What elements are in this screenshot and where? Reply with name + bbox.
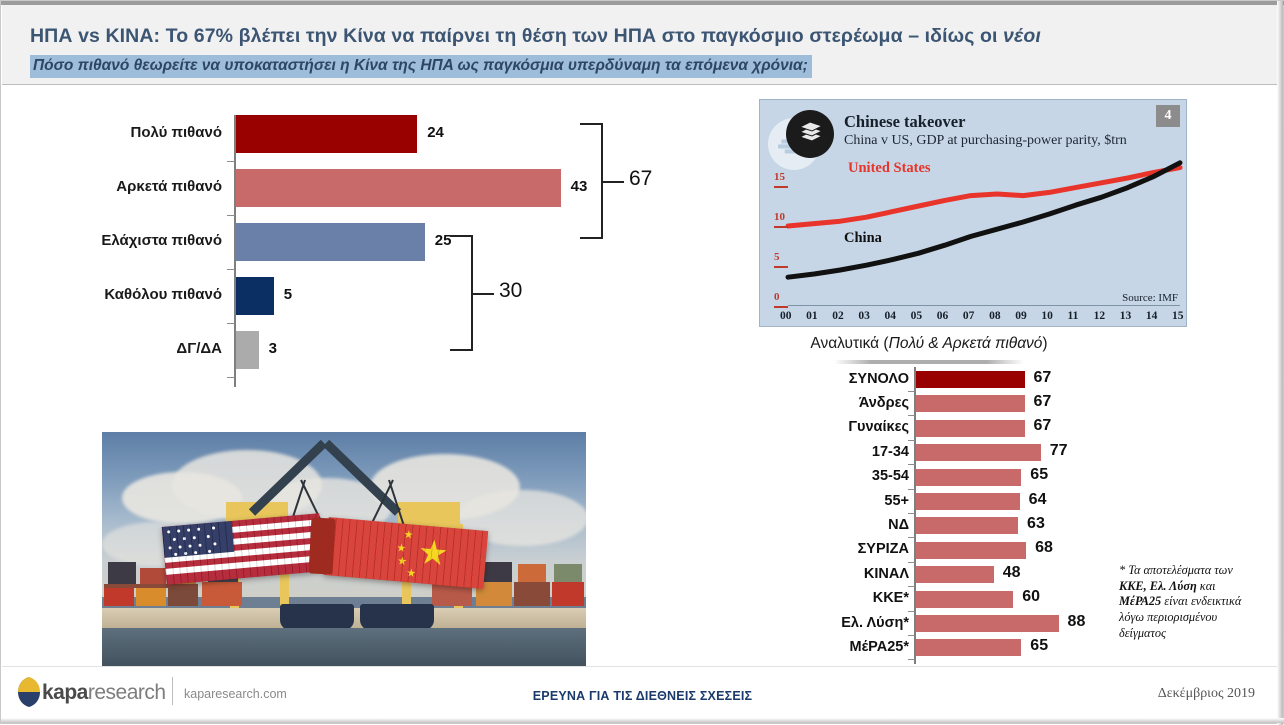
breakdown-chart-label: Άνδρες: [759, 395, 909, 411]
main-chart-value: 43: [571, 178, 588, 195]
breakdown-chart-value: 67: [1034, 393, 1052, 411]
main-bar-chart: 24432553 6730 Πολύ πιθανόΑρκετά πιθανόΕλ…: [1, 101, 701, 411]
breakdown-chart-value: 67: [1034, 369, 1052, 387]
breakdown-chart-tick: [908, 659, 915, 660]
boat: [280, 604, 354, 630]
main-chart-tick: [227, 323, 235, 324]
breakdown-chart-value: 48: [1003, 564, 1021, 582]
main-chart-bar: [236, 169, 561, 207]
breakdown-chart-tick: [908, 537, 915, 538]
economist-x-axis: [788, 305, 1180, 306]
breakdown-chart-bar: [916, 444, 1041, 461]
breakdown-chart-bar: [916, 420, 1025, 437]
breakdown-chart-label: ΣΥΡΙΖΑ: [759, 541, 909, 557]
breakdown-chart-label: ΜέΡΑ25*: [759, 639, 909, 655]
slide-right-edge: [1277, 1, 1283, 725]
economist-x-label: 15: [1172, 310, 1184, 322]
main-chart-label: Ελάχιστα πιθανό: [72, 232, 222, 249]
breakdown-chart-tick: [908, 415, 915, 416]
breakdown-chart-bar: [916, 395, 1025, 412]
breakdown-chart-value: 68: [1035, 539, 1053, 557]
container: [202, 582, 242, 606]
breakdown-chart-bar: [916, 469, 1021, 486]
slide-footer: kaparesearch kaparesearch.com ΕΡΕΥΝΑ ΓΙΑ…: [2, 666, 1283, 718]
economist-x-label: 10: [1041, 310, 1053, 322]
main-chart-bar: [236, 277, 274, 315]
breakdown-chart-tick: [908, 562, 915, 563]
economist-series-label: United States: [848, 160, 931, 177]
economist-source: Source: IMF: [1122, 292, 1178, 304]
economist-chart: Chinese takeover China v US, GDP at purc…: [759, 99, 1187, 327]
main-chart-value: 24: [427, 124, 444, 141]
main-chart-brace-value: 67: [629, 167, 652, 191]
economist-y-tick: [774, 266, 788, 268]
footer-survey-title: ΕΡΕΥΝΑ ΓΙΑ ΤΙΣ ΔΙΕΘΝΕΙΣ ΣΧΕΣΕΙΣ: [2, 689, 1283, 703]
breakdown-chart-bar: [916, 615, 1059, 632]
breakdown-chart-bar: [916, 493, 1020, 510]
page-subtitle: Πόσο πιθανό θεωρείτε να υποκαταστήσει η …: [30, 55, 812, 78]
footer-date: Δεκέμβριος 2019: [1158, 686, 1255, 702]
economist-y-label: 15: [774, 171, 785, 183]
main-chart-label: Καθόλου πιθανό: [72, 286, 222, 303]
breakdown-footnote: * Τα αποτελέσματα των ΚΚΕ, Ελ. Λύση και …: [1119, 563, 1259, 642]
economist-x-label: 05: [911, 310, 923, 322]
container: [104, 584, 198, 588]
page-title-italic: νέοι: [1003, 25, 1041, 47]
main-chart-bar: [236, 331, 259, 369]
main-chart-label: ΔΓ/ΔΑ: [72, 340, 222, 357]
breakdown-chart-value: 63: [1027, 515, 1045, 533]
main-chart-label: Πολύ πιθανό: [72, 124, 222, 141]
main-chart-label: Αρκετά πιθανό: [72, 178, 222, 195]
breakdown-title-close: ): [1042, 335, 1047, 352]
main-chart-tick: [227, 161, 235, 162]
economist-y-tick: [774, 306, 788, 308]
breakdown-title-plain: Αναλυτικά (: [810, 335, 888, 352]
container: [514, 582, 550, 606]
container: [518, 564, 546, 582]
economist-x-label: 07: [963, 310, 975, 322]
breakdown-chart-label: ΚΚΕ*: [759, 590, 909, 606]
main-chart-tick: [227, 215, 235, 216]
economist-x-label: 09: [1015, 310, 1027, 322]
breakdown-chart-tick: [908, 489, 915, 490]
main-chart-tick: [227, 377, 235, 378]
breakdown-chart-label: ΚΙΝΑΛ: [759, 566, 909, 582]
main-chart-value: 5: [284, 286, 292, 303]
economist-x-label: 03: [858, 310, 870, 322]
breakdown-chart-bar: [916, 542, 1026, 559]
page-title-bold: ΗΠΑ vs ΚΙΝΑ:: [30, 25, 160, 47]
container: [108, 562, 136, 584]
economist-x-label: 06: [937, 310, 949, 322]
main-chart-value: 3: [269, 340, 277, 357]
economist-x-label: 11: [1067, 310, 1078, 322]
breakdown-chart-label: Ελ. Λύση*: [759, 615, 909, 631]
container: [552, 582, 584, 606]
boat: [360, 604, 434, 630]
breakdown-chart-label: ΣΥΝΟΛΟ: [759, 371, 909, 387]
slide-header: ΗΠΑ vs ΚΙΝΑ: Το 67% βλέπει την Κίνα να π…: [2, 5, 1283, 85]
breakdown-title-italic: Πολύ & Αρκετά πιθανό: [889, 335, 1043, 352]
economist-x-label: 00: [780, 310, 792, 322]
breakdown-chart-bar: [916, 517, 1018, 534]
footnote-prefix: * Τα αποτελέσματα των: [1119, 563, 1233, 577]
footnote-mid: και: [1197, 579, 1216, 593]
container: [140, 568, 166, 584]
breakdown-chart-tick: [908, 611, 915, 612]
collision-debris: [309, 517, 336, 574]
main-chart-tick: [227, 269, 235, 270]
economist-y-tick: [774, 186, 788, 188]
breakdown-chart-bar: [916, 591, 1013, 608]
breakdown-chart-value: 88: [1068, 613, 1086, 631]
slide-bottom-edge: [1, 718, 1284, 723]
main-chart-brace-value: 30: [499, 279, 522, 303]
breakdown-chart-bar: [916, 566, 994, 583]
container: [554, 564, 582, 582]
economist-y-tick: [774, 226, 788, 228]
economist-x-label: 02: [832, 310, 844, 322]
breakdown-chart-value: 67: [1034, 417, 1052, 435]
breakdown-chart-value: 64: [1029, 491, 1047, 509]
breakdown-chart-tick: [908, 440, 915, 441]
slide-root: ΗΠΑ vs ΚΙΝΑ: Το 67% βλέπει την Κίνα να π…: [0, 0, 1284, 724]
breakdown-chart-label: 35-54: [759, 468, 909, 484]
breakdown-chart-label: 17-34: [759, 444, 909, 460]
economist-x-label: 04: [885, 310, 897, 322]
breakdown-chart-label: 55+: [759, 493, 909, 509]
footnote-bold-1: ΚΚΕ, Ελ. Λύση: [1119, 579, 1197, 593]
breakdown-chart-value: 65: [1030, 637, 1048, 655]
breakdown-title-underline: [834, 360, 1024, 364]
main-chart-value: 25: [435, 232, 452, 249]
breakdown-chart-tick: [908, 464, 915, 465]
breakdown-chart-tick: [908, 513, 915, 514]
breakdown-chart-title: Αναλυτικά (Πολύ & Αρκετά πιθανό): [759, 335, 1099, 353]
breakdown-chart-value: 65: [1030, 466, 1048, 484]
economist-y-label: 0: [774, 291, 780, 303]
main-chart-bar: [236, 115, 417, 153]
breakdown-chart-tick: [908, 586, 915, 587]
breakdown-chart-tick: [908, 391, 915, 392]
economist-x-label: 01: [806, 310, 818, 322]
breakdown-chart-value: 60: [1022, 588, 1040, 606]
main-chart-bar: [236, 223, 425, 261]
breakdown-chart-bar: [916, 371, 1025, 388]
economist-x-label: 08: [989, 310, 1001, 322]
economist-y-label: 5: [774, 251, 780, 263]
breakdown-chart-label: ΝΔ: [759, 517, 909, 533]
economist-x-label: 12: [1094, 310, 1106, 322]
breakdown-bar-chart: Αναλυτικά (Πολύ & Αρκετά πιθανό) 6767677…: [759, 335, 1179, 695]
trade-war-photo: ★ ★ ★ ★ ★: [102, 432, 586, 668]
footnote-bold-2: ΜέΡΑ25: [1119, 594, 1161, 608]
economist-x-label: 13: [1120, 310, 1132, 322]
breakdown-chart-value: 77: [1050, 442, 1068, 460]
photo-water: [102, 628, 586, 668]
economist-x-label: 14: [1146, 310, 1158, 322]
page-title-rest: Το 67% βλέπει την Κίνα να παίρνει τη θέσ…: [160, 25, 1003, 47]
breakdown-chart-bar: [916, 639, 1021, 656]
economist-y-label: 10: [774, 211, 785, 223]
breakdown-chart-label: Γυναίκες: [759, 419, 909, 435]
container: [482, 562, 512, 582]
breakdown-chart-tick: [908, 635, 915, 636]
economist-series-label: China: [844, 230, 882, 247]
page-title: ΗΠΑ vs ΚΙΝΑ: Το 67% βλέπει την Κίνα να π…: [30, 25, 1041, 48]
